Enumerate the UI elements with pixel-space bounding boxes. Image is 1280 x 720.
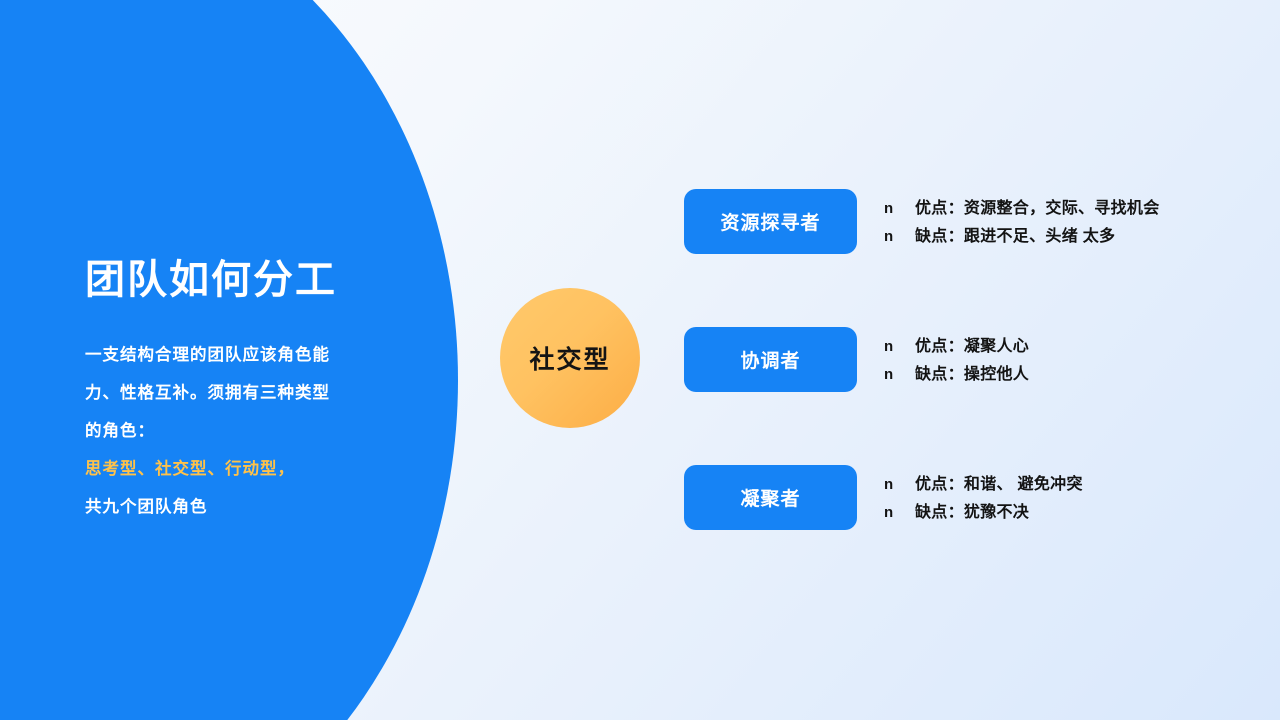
role-chip-label: 协调者 xyxy=(740,346,800,373)
bullet-marker-icon: n xyxy=(884,504,915,521)
category-circle-label: 社交型 xyxy=(529,340,610,376)
left-text-panel: 团队如何分工 一支结构合理的团队应该角色能 力、性格互补。须拥有三种类型 的角色… xyxy=(85,258,405,526)
list-item: n 缺点：操控他人 xyxy=(884,360,1280,388)
body-line: 的角色： xyxy=(85,412,405,450)
bullet-marker-icon: n xyxy=(884,476,915,493)
bullet-text: 缺点：操控他人 xyxy=(915,360,1029,384)
page-title: 团队如何分工 xyxy=(85,258,405,302)
role-chip-label: 凝聚者 xyxy=(740,484,800,511)
role-bullets: n 优点：凝聚人心 n 缺点：操控他人 xyxy=(884,332,1280,388)
role-chip-coordinator[interactable]: 协调者 xyxy=(684,327,857,392)
body-line-accent: 思考型、社交型、行动型， xyxy=(85,450,405,488)
bullet-text: 优点：和谐、 避免冲突 xyxy=(915,470,1083,494)
role-chip-teamworker[interactable]: 凝聚者 xyxy=(684,465,857,530)
bullet-text: 缺点：跟进不足、头绪 太多 xyxy=(915,222,1115,246)
role-chip-label: 资源探寻者 xyxy=(720,208,820,235)
bullet-text: 优点：资源整合，交际、寻找机会 xyxy=(915,194,1160,218)
list-item: n 优点：资源整合，交际、寻找机会 xyxy=(884,194,1280,222)
role-bullets: n 优点：和谐、 避免冲突 n 缺点：犹豫不决 xyxy=(884,470,1280,526)
list-item: n 缺点：犹豫不决 xyxy=(884,498,1280,526)
bullet-marker-icon: n xyxy=(884,228,915,245)
list-item: n 优点：和谐、 避免冲突 xyxy=(884,470,1280,498)
category-circle: 社交型 xyxy=(500,288,640,428)
body-line: 共九个团队角色 xyxy=(85,488,405,526)
slide-canvas: 团队如何分工 一支结构合理的团队应该角色能 力、性格互补。须拥有三种类型 的角色… xyxy=(0,0,1280,720)
list-item: n 优点：凝聚人心 xyxy=(884,332,1280,360)
left-body-text: 一支结构合理的团队应该角色能 力、性格互补。须拥有三种类型 的角色： 思考型、社… xyxy=(85,336,405,526)
body-line: 力、性格互补。须拥有三种类型 xyxy=(85,374,405,412)
bullet-text: 缺点：犹豫不决 xyxy=(915,498,1029,522)
role-bullets: n 优点：资源整合，交际、寻找机会 n 缺点：跟进不足、头绪 太多 xyxy=(884,194,1280,250)
role-chip-resource-investigator[interactable]: 资源探寻者 xyxy=(684,189,857,254)
bullet-marker-icon: n xyxy=(884,200,915,217)
bullet-text: 优点：凝聚人心 xyxy=(915,332,1029,356)
bullet-marker-icon: n xyxy=(884,338,915,355)
body-line: 一支结构合理的团队应该角色能 xyxy=(85,336,405,374)
bullet-marker-icon: n xyxy=(884,366,915,383)
list-item: n 缺点：跟进不足、头绪 太多 xyxy=(884,222,1280,250)
